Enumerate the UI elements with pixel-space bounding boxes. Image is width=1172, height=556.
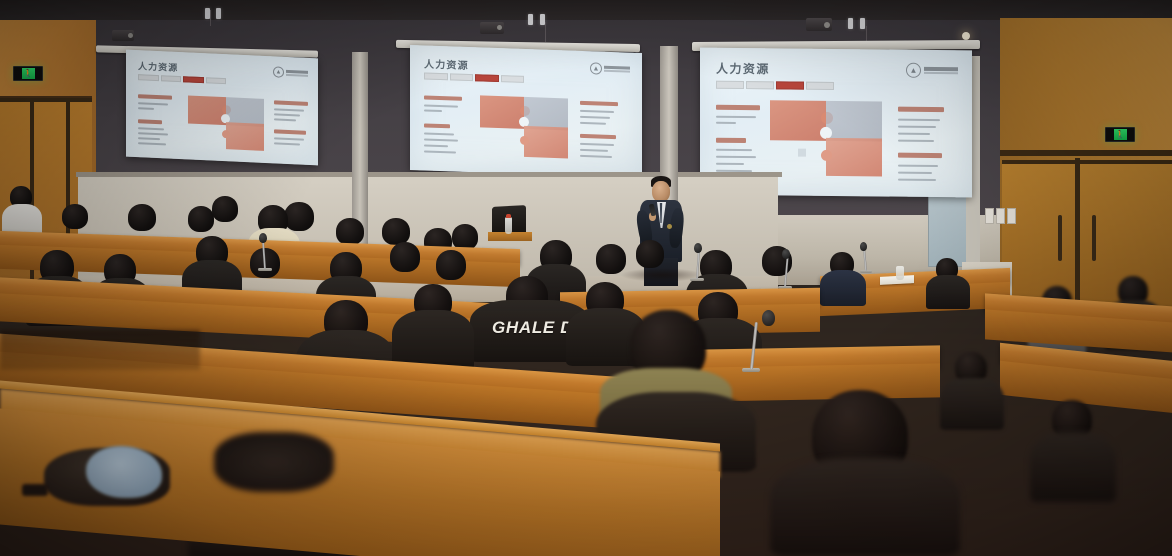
- slide-center-knob-c: [520, 136, 529, 145]
- audience-body-br-2: [926, 275, 970, 309]
- slide-right-logo-text: [924, 67, 958, 74]
- slide-center: 人力资源 ▲: [410, 45, 642, 178]
- slide-left-nav-item-0[interactable]: [138, 74, 159, 81]
- exit-sign-right: 🚶: [1105, 127, 1135, 142]
- slide-right-logo: ▲: [906, 63, 958, 79]
- left-door-header: [0, 98, 92, 102]
- water-bottle-lectern: [505, 217, 512, 234]
- screen-center: 人力资源 ▲: [410, 45, 642, 178]
- slide-right-puzzle-b: [826, 101, 882, 142]
- slide-right-title: 人力资源: [716, 60, 770, 78]
- audience-head-a4: [188, 206, 214, 232]
- ceiling-rod-2: [545, 22, 546, 42]
- right-door-header: [1000, 150, 1172, 156]
- slide-left-knob-c: [222, 130, 230, 138]
- left-bench-shadow: [0, 330, 200, 370]
- mic-head-b2: [694, 243, 702, 253]
- slide-left-title: 人力资源: [138, 59, 178, 74]
- mic-head-b3: [782, 249, 790, 259]
- mic-head-br: [860, 242, 867, 251]
- slide-center-puzzle-a: [480, 95, 524, 129]
- slide-right-heading-4: [898, 153, 942, 158]
- slide-left-puzzle-c: [226, 122, 264, 151]
- slide-center-logo-mark: ▲: [590, 62, 602, 74]
- water-bottle-cap: [506, 214, 511, 218]
- slide-left: 人力资源 ▲: [126, 50, 318, 166]
- foreground-body-2: [770, 458, 960, 556]
- foreground-dark-mass: [214, 432, 334, 492]
- projector-center: [480, 22, 504, 34]
- audience-head-b10: [636, 240, 664, 268]
- slide-right-puzzle-a: [770, 100, 826, 141]
- slide-right-nav-item-1[interactable]: [746, 81, 774, 89]
- slide-center-heading-3: [580, 101, 618, 106]
- ceiling-fixture-2a: [528, 14, 533, 25]
- slide-left-puzzle-a: [188, 95, 226, 125]
- slide-right-puzzle-c: [826, 138, 882, 177]
- slide-center-heading-4: [580, 134, 616, 139]
- slide-center-nav-item-1[interactable]: [450, 73, 474, 81]
- slide-left-nav-item-1[interactable]: [161, 75, 182, 82]
- projector-right: [806, 18, 832, 31]
- slide-center-logo: ▲: [590, 62, 630, 75]
- exit-sign-right-glyph: 🚶: [1114, 129, 1127, 140]
- slide-right-logo-mark: ▲: [906, 63, 921, 78]
- backpack-strap: [22, 484, 48, 496]
- slide-right-heading-2: [716, 138, 746, 143]
- mic-head-b1: [259, 233, 267, 243]
- slide-right-nav-item-2[interactable]: [776, 81, 804, 89]
- ceiling-fixture-3a: [848, 18, 853, 29]
- slide-left-logo-text: [286, 69, 308, 76]
- slide-center-logo-text: [604, 66, 630, 73]
- slide-center-puzzle-c: [524, 126, 568, 159]
- slide-center-nav-item-3[interactable]: [501, 75, 525, 83]
- ceiling-fixture-1a: [205, 8, 210, 19]
- slide-left-nav-item-3[interactable]: [206, 77, 227, 84]
- slide-right-nav: [716, 81, 834, 90]
- right-door-split: [1075, 158, 1080, 318]
- exit-sign-left: 🚶: [13, 66, 43, 81]
- mic-head-c1: [762, 310, 775, 326]
- right-door-handle-left[interactable]: [1058, 215, 1062, 261]
- audience-body-br-1: [820, 270, 866, 306]
- right-door-handle-right[interactable]: [1092, 215, 1096, 261]
- slide-left-nav-item-2[interactable]: [183, 76, 204, 83]
- projector-right-lens: [824, 22, 830, 28]
- slide-center-nav: [424, 72, 524, 82]
- exit-sign-left-glyph: 🚶: [22, 68, 35, 79]
- slide-center-heading-1: [424, 95, 462, 100]
- audience-head-a2: [62, 204, 88, 229]
- audience-head-a7: [284, 202, 314, 231]
- slide-left-logo: ▲: [273, 66, 308, 79]
- downlight: [962, 32, 970, 40]
- slide-left-heading-2: [138, 119, 162, 124]
- projector-left: [112, 30, 134, 41]
- slide-right-small-mark: [798, 149, 806, 157]
- audience-head-b9: [596, 244, 626, 274]
- slide-right-nav-item-0[interactable]: [716, 81, 744, 89]
- projector-center-lens: [497, 25, 502, 30]
- audience-head-a5: [212, 196, 238, 222]
- speaker-lapel-pin: [667, 224, 672, 229]
- slide-center-nav-item-0[interactable]: [424, 72, 448, 80]
- slide-right-knob-c: [821, 150, 832, 161]
- ceiling-fixture-3b: [860, 18, 865, 29]
- ceiling-rod-1: [210, 10, 211, 26]
- water-bottle-desk-right: [896, 266, 904, 280]
- lecture-hall-photo: 🚶 🚶 人力资源 ▲: [0, 0, 1172, 556]
- slide-right-nav-item-3[interactable]: [806, 82, 834, 90]
- light-switch-1[interactable]: [985, 208, 994, 224]
- audience-head-b6: [390, 242, 420, 272]
- slide-left-heading-1: [138, 94, 172, 100]
- screen-left: 人力资源 ▲: [126, 50, 318, 166]
- audience-head-b7: [436, 250, 466, 280]
- light-switch-2[interactable]: [996, 208, 1005, 224]
- slide-left-nav: [138, 74, 226, 84]
- slide-center-heading-2: [424, 123, 450, 128]
- slide-left-heading-3: [274, 100, 308, 106]
- audience-head-a3: [128, 204, 156, 231]
- slide-left-logo-mark: ▲: [273, 66, 284, 77]
- slide-center-nav-item-2[interactable]: [475, 74, 499, 82]
- ceiling-fixture-1b: [216, 8, 221, 19]
- audience-head-a9: [382, 218, 410, 245]
- speaker-head: [652, 181, 670, 202]
- slide-left-heading-4: [274, 129, 306, 134]
- slide-right-heading-3: [898, 107, 944, 112]
- slide-right-heading-1: [716, 105, 760, 110]
- slide-center-title: 人力资源: [424, 55, 469, 72]
- audience-body-r-4: [1030, 432, 1116, 502]
- light-switch-3[interactable]: [1007, 208, 1016, 224]
- audience-head-a8: [336, 218, 364, 245]
- audience-body-r-3: [940, 378, 1004, 430]
- projector-left-lens: [128, 33, 133, 38]
